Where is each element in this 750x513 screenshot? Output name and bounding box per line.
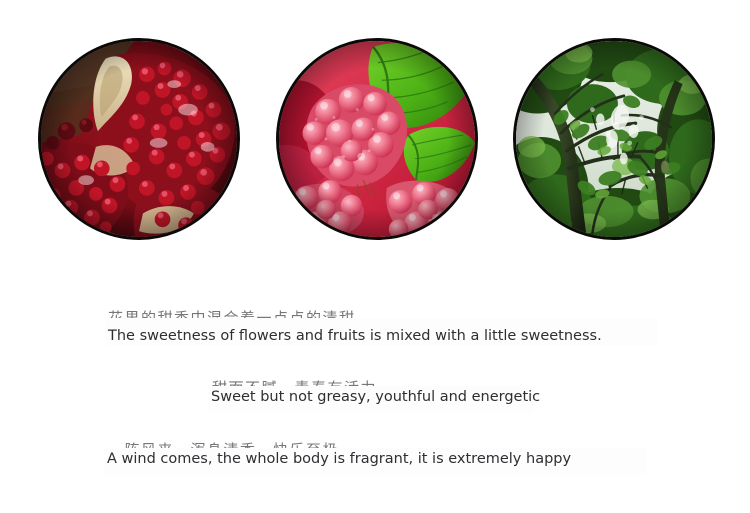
raspberry-photo <box>279 41 475 237</box>
photo-circle-forest-canopy[interactable] <box>513 38 715 240</box>
page-root: 花果的甜香中混合着一点点的清甜 甜而不腻，青春有活力 一阵风来，浑身清香，快乐至… <box>0 0 750 513</box>
caption-line-1: The sweetness of flowers and fruits is m… <box>108 326 602 346</box>
photo-gallery <box>0 38 750 242</box>
photo-circle-pomegranate[interactable] <box>38 38 240 240</box>
caption-line-3: A wind comes, the whole body is fragrant… <box>107 449 571 469</box>
photo-circle-raspberry[interactable] <box>276 38 478 240</box>
pomegranate-photo <box>41 41 237 237</box>
caption-line-2: Sweet but not greasy, youthful and energ… <box>211 387 540 407</box>
tree-canopy-photo <box>516 41 712 237</box>
